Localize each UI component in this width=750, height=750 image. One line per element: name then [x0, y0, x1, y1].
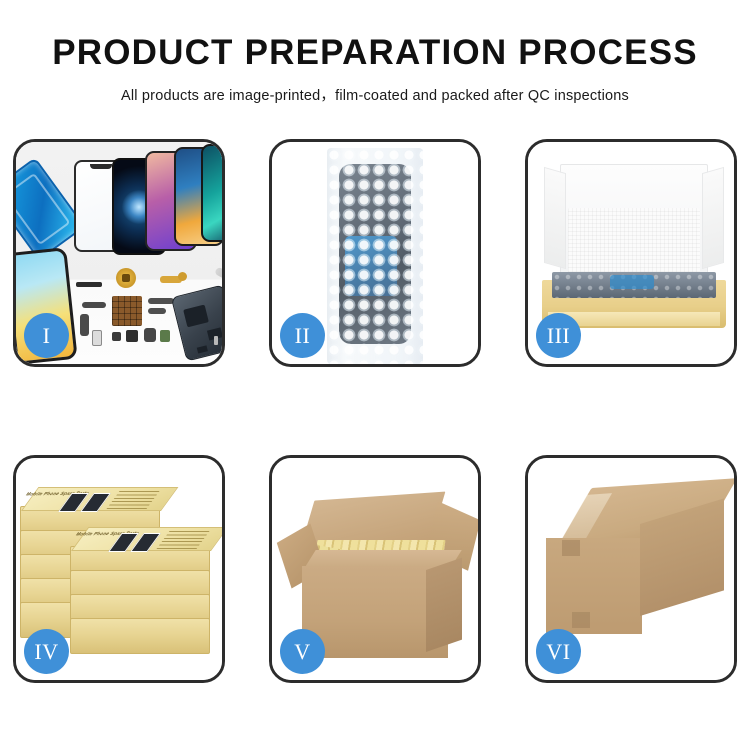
page-subtitle: All products are image-printed，film-coat… [0, 84, 750, 105]
foam-lining-icon [568, 208, 700, 280]
bubble-wrap-package [327, 148, 423, 364]
page-title: PRODUCT PREPARATION PROCESS [0, 34, 750, 73]
sim-tray-icon [92, 330, 102, 346]
screws-icon [214, 336, 222, 352]
ribbon-cable-icon [82, 302, 106, 308]
open-flat-box [542, 164, 726, 340]
steps-row-bottom: Mobile Phone Spare Parts Mobile Phone Sp… [13, 455, 737, 683]
step-panel-6[interactable]: VI [525, 455, 737, 683]
vibration-motor-icon [116, 268, 136, 288]
earpiece-mesh-icon [76, 282, 102, 287]
taptic-engine-icon [126, 330, 138, 342]
antenna-flex-icon [148, 308, 166, 314]
box-lid-right-flap-icon [702, 167, 724, 269]
step-panel-1[interactable]: I [13, 139, 225, 367]
carton-front-icon [546, 538, 642, 634]
steps-row-top: I II [13, 139, 737, 367]
carton-handle-tab-icon [572, 612, 590, 628]
step-badge-6: VI [536, 629, 581, 674]
carton-side-icon [426, 558, 462, 652]
spare-parts-group [74, 260, 222, 364]
sealed-shipping-carton [548, 488, 724, 656]
step-panel-5[interactable]: V [269, 455, 481, 683]
camera-lens-icon [178, 272, 187, 281]
step-badge-1: I [24, 313, 69, 358]
phone-screen-teal-icon [201, 144, 222, 242]
packed-parts-icon [552, 272, 716, 298]
step-panel-2[interactable]: II [269, 139, 481, 367]
rear-camera-icon [144, 328, 156, 342]
bubble-wrap-highlight-icon [327, 148, 423, 364]
carton-handle-tab-icon [562, 540, 580, 556]
box-lid-left-flap-icon [544, 167, 566, 269]
step-badge-5: V [280, 629, 325, 674]
steps-grid: I II [13, 139, 737, 683]
step-panel-3[interactable]: III [525, 139, 737, 367]
step-panel-4[interactable]: Mobile Phone Spare Parts Mobile Phone Sp… [13, 455, 225, 683]
step-badge-3: III [536, 313, 581, 358]
product-preparation-infographic: PRODUCT PREPARATION PROCESS All products… [0, 0, 750, 750]
power-flex-icon [80, 314, 89, 336]
home-button-icon [112, 332, 121, 341]
step-badge-4: IV [24, 629, 69, 674]
retail-box [70, 618, 210, 654]
header: PRODUCT PREPARATION PROCESS All products… [0, 0, 750, 105]
step-badge-2: II [280, 313, 325, 358]
loudspeaker-icon [160, 330, 170, 342]
volume-flex-icon [148, 298, 174, 304]
speaker-grille-icon [112, 296, 142, 326]
